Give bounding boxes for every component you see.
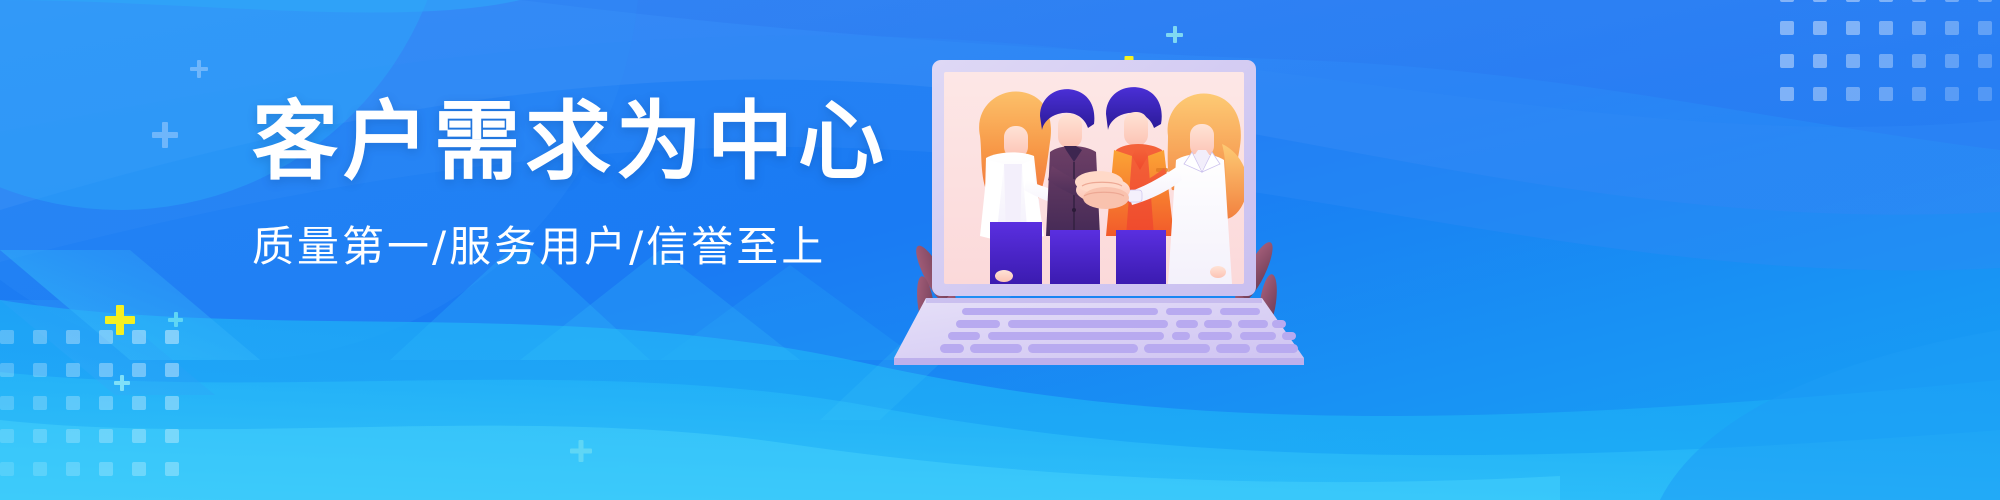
grid-dot: [1978, 54, 1992, 68]
plus-bar-vertical: [120, 375, 124, 391]
plus-white-medium-icon: [152, 122, 178, 148]
grid-dot: [1813, 0, 1827, 2]
grid-dot: [132, 396, 146, 410]
grid-dot: [1945, 87, 1959, 101]
plus-cyan-faint-icon: [114, 375, 130, 391]
grid-dot: [132, 429, 146, 443]
grid-dot: [1945, 21, 1959, 35]
grid-dot: [66, 396, 80, 410]
grid-dot: [1978, 0, 1992, 2]
grid-dot: [99, 429, 113, 443]
plus-white-small-icon: [190, 60, 208, 78]
grid-dot: [33, 429, 47, 443]
grid-dot: [66, 429, 80, 443]
grid-dot: [165, 330, 179, 344]
grid-dot: [1912, 0, 1926, 2]
grid-dot: [0, 429, 14, 443]
grid-dot: [1945, 54, 1959, 68]
subtitle: 质量第一/服务用户/信誉至上: [252, 213, 889, 274]
grid-dot: [132, 462, 146, 476]
grid-dot: [1780, 0, 1794, 2]
grid-dot: [165, 462, 179, 476]
grid-dot: [1846, 21, 1860, 35]
grid-dot: [1813, 87, 1827, 101]
grid-dot: [1978, 21, 1992, 35]
grid-dot: [33, 396, 47, 410]
grid-dot: [1912, 54, 1926, 68]
laptop-teamwork-illustration: [900, 40, 1320, 370]
grid-dot: [1945, 0, 1959, 2]
headline-group: 客户需求为中心 质量第一/服务用户/信誉至上: [252, 96, 889, 274]
plus-bar-vertical: [116, 305, 124, 335]
grid-dot: [33, 462, 47, 476]
page-title: 客户需求为中心: [252, 96, 889, 189]
grid-dot: [0, 462, 14, 476]
grid-dot: [33, 330, 47, 344]
grid-dot: [1912, 21, 1926, 35]
promo-banner: 客户需求为中心 质量第一/服务用户/信誉至上: [0, 0, 2000, 500]
grid-dot: [165, 363, 179, 377]
grid-dot: [33, 363, 47, 377]
plus-bar-vertical: [162, 122, 168, 148]
grid-dot: [1879, 87, 1893, 101]
plus-cyan-mid-icon: [570, 440, 592, 462]
grid-dot: [1912, 87, 1926, 101]
grid-dot: [165, 429, 179, 443]
grid-dot: [1846, 0, 1860, 2]
grid-dot: [165, 396, 179, 410]
grid-dot: [0, 396, 14, 410]
plus-bar-vertical: [197, 60, 201, 78]
grid-dot: [99, 363, 113, 377]
plus-bar-vertical: [579, 440, 584, 462]
plus-bar-vertical: [174, 312, 178, 327]
grid-dot: [66, 462, 80, 476]
grid-dot: [1879, 21, 1893, 35]
plus-yellow-bottom-icon: [105, 305, 135, 335]
dot-grid-top-right: [1780, 0, 2000, 120]
grid-dot: [0, 363, 14, 377]
grid-dot: [0, 330, 14, 344]
grid-dot: [1780, 54, 1794, 68]
plus-cyan-bottom-icon: [168, 312, 183, 327]
grid-dot: [1879, 0, 1893, 2]
grid-dot: [1846, 54, 1860, 68]
grid-dot: [66, 330, 80, 344]
dot-grid-bottom-left: [0, 330, 198, 495]
grid-dot: [99, 396, 113, 410]
grid-dot: [1813, 21, 1827, 35]
grid-dot: [99, 462, 113, 476]
grid-dot: [1780, 21, 1794, 35]
grid-dot: [1879, 54, 1893, 68]
grid-dot: [1846, 87, 1860, 101]
grid-dot: [1780, 87, 1794, 101]
grid-dot: [66, 363, 80, 377]
laptop-keyboard: [894, 298, 1304, 365]
grid-dot: [1978, 87, 1992, 101]
grid-dot: [132, 363, 146, 377]
grid-dot: [1813, 54, 1827, 68]
